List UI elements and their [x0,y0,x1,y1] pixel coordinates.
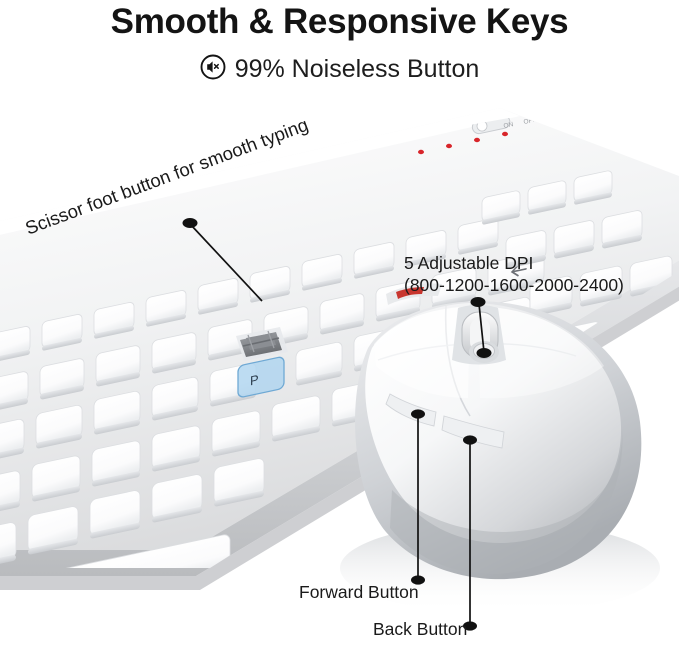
leader-dot-dpi-bottom [477,348,492,358]
callout-leader-lines [0,0,679,657]
leader-dot-scissor [183,218,198,228]
leader-dot-back-top [463,435,477,444]
leader-scissor [183,218,263,301]
leader-dot-dpi-top [471,297,486,307]
product-feature-image: Smooth & Responsive Keys 99% Noiseless B… [0,0,679,657]
leader-forward [411,409,425,584]
leader-dpi [471,297,492,358]
callout-dpi-line2: (800-1200-1600-2000-2400) [404,274,624,296]
leader-dot-forward-top [411,409,425,418]
callout-dpi: 5 Adjustable DPI (800-1200-1600-2000-240… [404,252,624,297]
leader-back [463,435,477,630]
callout-back-button: Back Button [373,618,467,640]
callout-forward-button: Forward Button [299,581,419,603]
callout-dpi-line1: 5 Adjustable DPI [404,253,533,273]
